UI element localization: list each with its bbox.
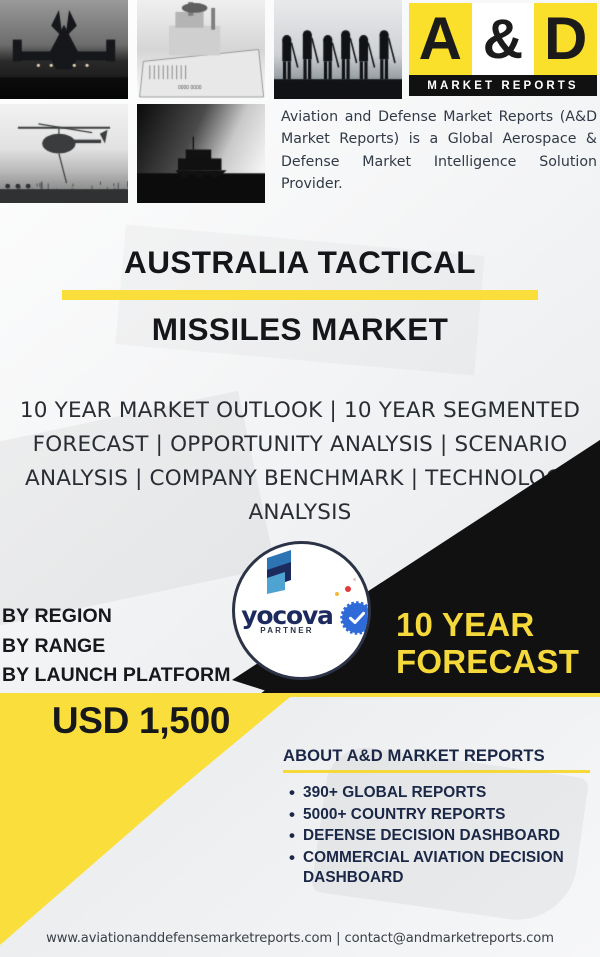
logo-letter-a: A <box>409 3 472 75</box>
logo-ampersand: & <box>472 3 535 75</box>
title-line-1: AUSTRALIA TACTICAL <box>0 244 600 281</box>
helicopter-photo <box>0 104 128 203</box>
logo-letter-row: A & D <box>409 3 597 75</box>
sparkle-dot <box>353 578 356 581</box>
footer-contact: www.aviationanddefensemarketreports.com … <box>0 931 600 946</box>
brand-logo: A & D MARKET REPORTS <box>409 3 597 96</box>
about-bullet: 390+ GLOBAL REPORTS <box>303 783 593 803</box>
header-section: A & D MARKET REPORTS Aviation and Defens… <box>0 0 600 232</box>
about-divider <box>283 770 590 773</box>
about-bullet: DEFENSE DECISION DASHBOARD <box>303 826 593 846</box>
poster-canvas: A & D MARKET REPORTS Aviation and Defens… <box>0 0 600 957</box>
fighter-jet-photo <box>0 0 128 99</box>
sparkle-dot <box>345 586 351 592</box>
about-bullet-list: 390+ GLOBAL REPORTS 5000+ COUNTRY REPORT… <box>283 783 593 888</box>
about-section: ABOUT A&D MARKET REPORTS 390+ GLOBAL REP… <box>283 746 593 890</box>
logo-letter-d: D <box>534 3 597 75</box>
title-divider <box>62 290 538 300</box>
report-scope-text: 10 YEAR MARKET OUTLOOK | 10 YEAR SEGMENT… <box>18 394 582 530</box>
forecast-callout: 10 YEAR FORECAST <box>396 607 600 681</box>
about-heading: ABOUT A&D MARKET REPORTS <box>283 746 593 770</box>
navy-ship-photo <box>137 0 265 99</box>
segment-item: BY REGION <box>2 602 272 632</box>
logo-subtitle: MARKET REPORTS <box>409 75 597 96</box>
sparkle-dot <box>335 592 339 596</box>
segment-item: BY LAUNCH PLATFORM <box>2 661 272 691</box>
forecast-line-2: FORECAST <box>396 644 600 681</box>
yocova-flag-icon <box>265 550 311 594</box>
about-bullet: COMMERCIAL AVIATION DECISION DASHBOARD <box>303 848 593 887</box>
soldiers-silhouette-photo <box>274 0 402 99</box>
segment-item: BY RANGE <box>2 632 272 662</box>
company-intro-text: Aviation and Defense Market Reports (A&D… <box>281 106 597 196</box>
title-line-2: MISSILES MARKET <box>0 311 600 348</box>
price-value: USD 1,500 <box>6 700 276 742</box>
about-bullet: 5000+ COUNTRY REPORTS <box>303 805 593 825</box>
segment-list: BY REGION BY RANGE BY LAUNCH PLATFORM <box>2 602 272 691</box>
forecast-line-1: 10 YEAR <box>396 607 600 644</box>
page-title: AUSTRALIA TACTICAL MISSILES MARKET <box>0 244 600 348</box>
armored-vehicle-photo <box>137 104 265 203</box>
verified-check-icon <box>339 600 371 636</box>
